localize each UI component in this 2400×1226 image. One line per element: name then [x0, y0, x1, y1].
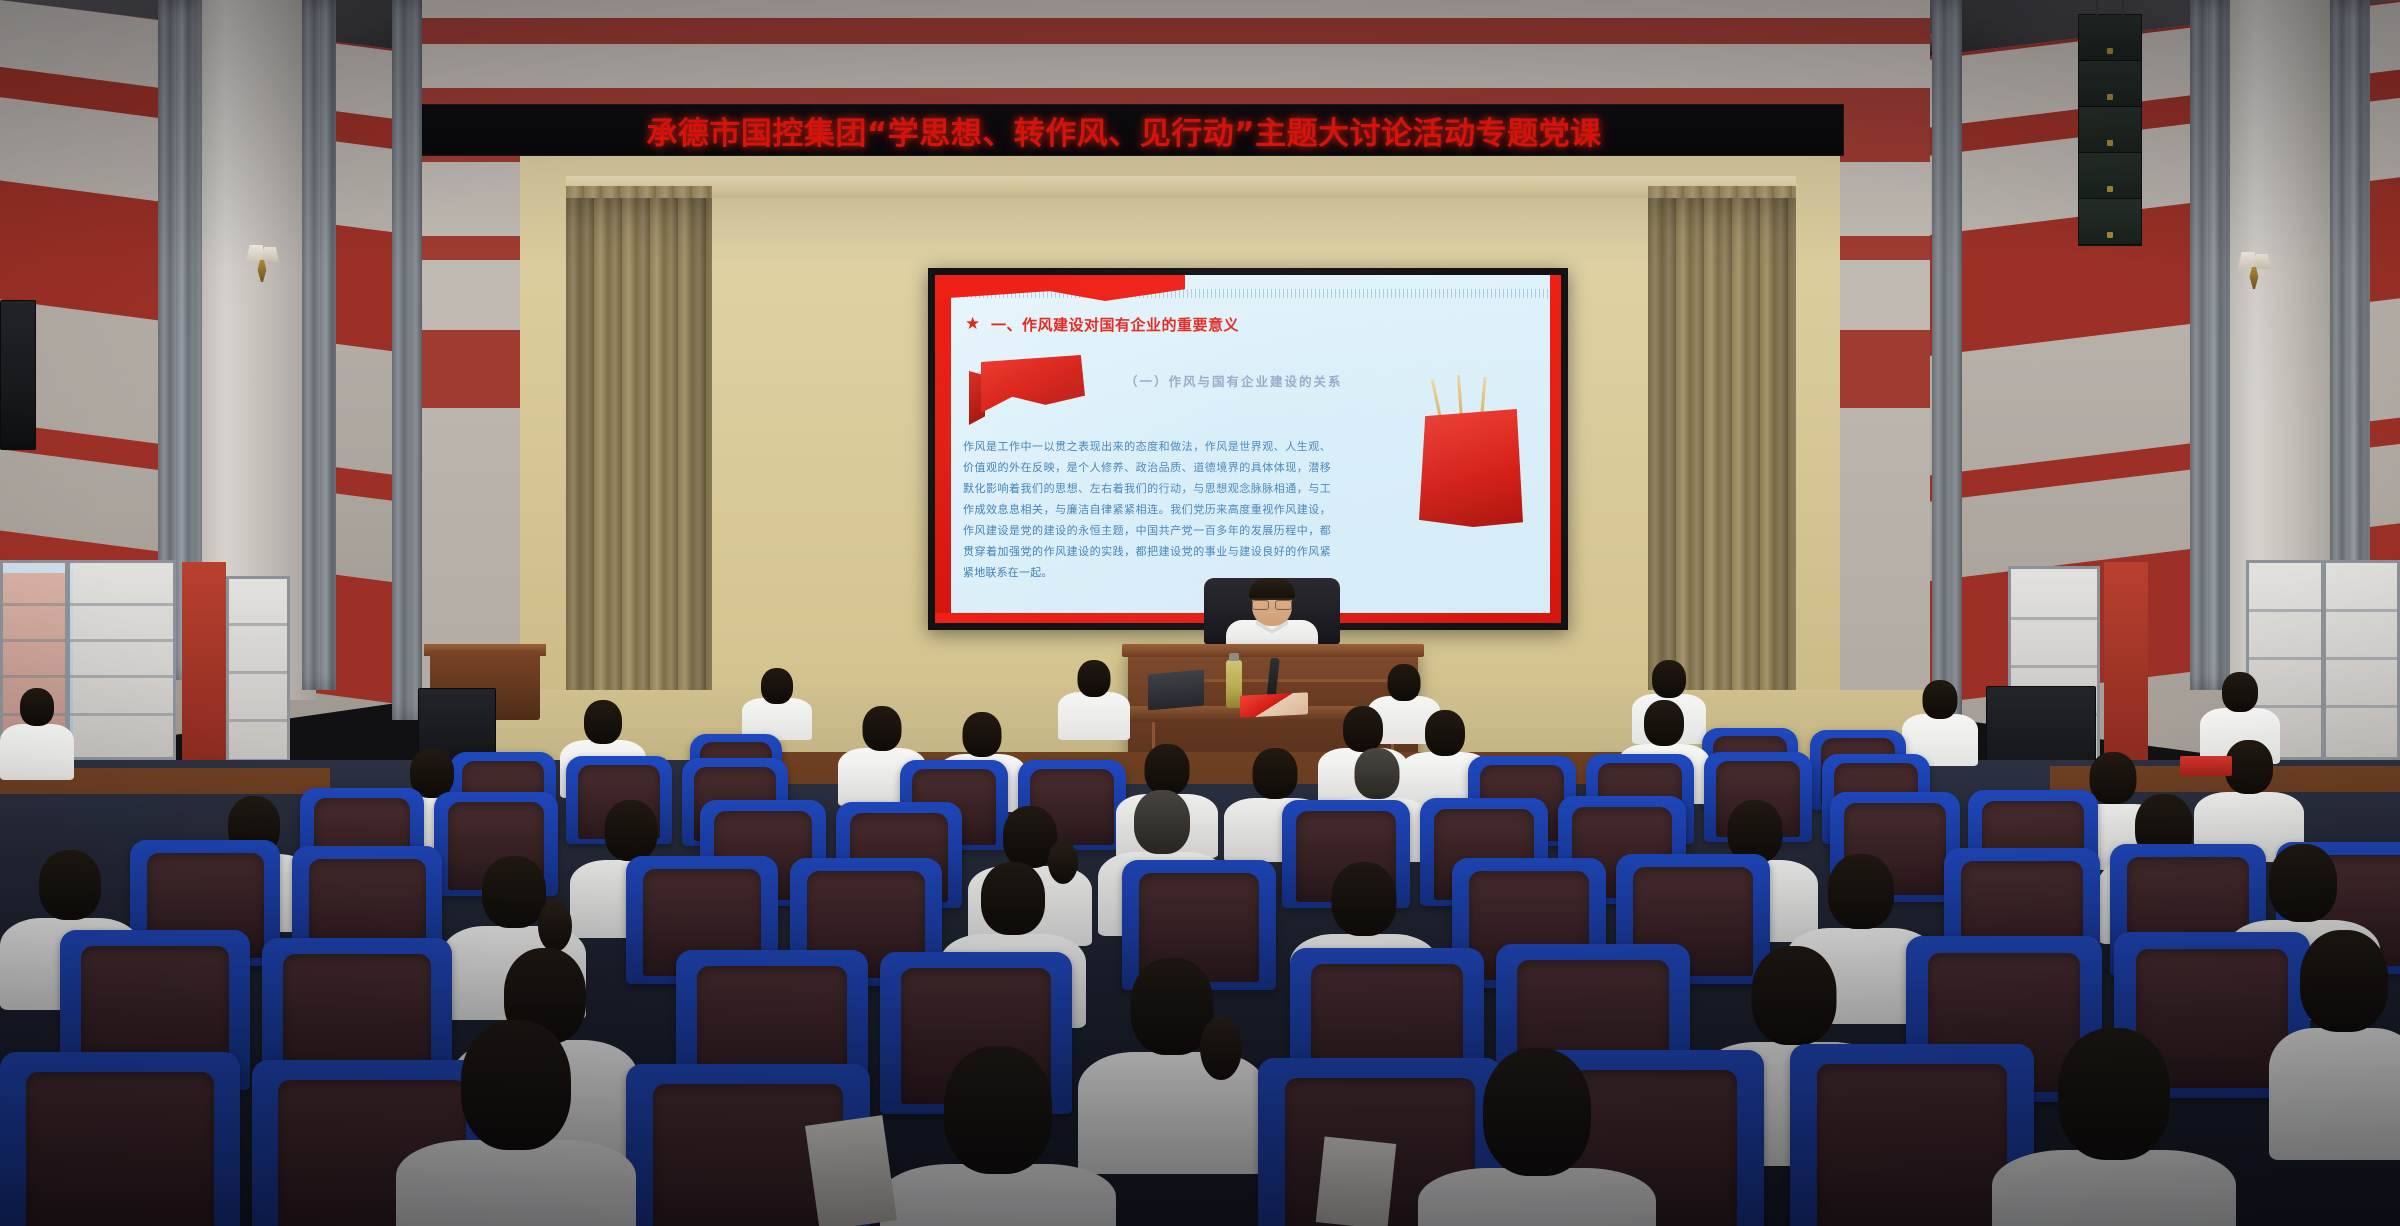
attendee-head [605, 800, 658, 861]
line-array-speaker-icon [2078, 14, 2142, 246]
presenter-hair [1249, 578, 1295, 600]
attendee-head [1332, 862, 1397, 936]
attendee-head [1134, 790, 1190, 854]
event-banner: 承德市国控集团“学思想、转作风、见行动”主题大讨论活动专题党课 [404, 104, 1844, 156]
star-icon: ★ [965, 315, 982, 332]
attendee-head [2300, 930, 2388, 1032]
attendee [1058, 660, 1130, 740]
attendee-head [1388, 664, 1421, 701]
attendee-head [1078, 660, 1111, 697]
stage-curtain-right [1648, 198, 1796, 738]
wall-panel-red [2104, 562, 2148, 760]
wall-sconce-icon [2232, 252, 2276, 292]
slide-title: 一、作风建设对国有企业的重要意义 [991, 314, 1239, 335]
attendee-head [20, 688, 54, 726]
attendee-head [2222, 672, 2258, 712]
auditorium-seat[interactable] [0, 1052, 240, 1226]
side-drape-left [392, 0, 422, 720]
attendee-head [1145, 744, 1190, 795]
attendee-head [981, 862, 1045, 935]
red-book-fan-icon [1411, 379, 1535, 529]
attendee [742, 668, 812, 740]
laptop-icon[interactable] [1148, 670, 1204, 711]
attendee-head [482, 856, 546, 928]
attendee-head [1923, 680, 1958, 719]
slide-body-text: 作风是工作中一以贯之表现出来的态度和做法，作风是世界观、人生观、价值观的外在反映… [963, 437, 1331, 584]
wall-sconce-icon [240, 245, 284, 285]
exterior-building [73, 560, 176, 760]
attendee-head [2269, 844, 2337, 922]
stage-curtain-left [566, 198, 712, 738]
slide-accent-bar-left [935, 275, 951, 623]
attendee-head [1752, 946, 1837, 1045]
attendee-shoulders [396, 1140, 636, 1226]
attendee [1992, 1028, 2236, 1226]
speaker-cabinet-icon [0, 300, 36, 450]
attendee-head [963, 712, 1002, 757]
pillar-drape-right [2190, 0, 2230, 690]
attendee-head [1425, 710, 1465, 756]
glasses-icon [1251, 598, 1293, 606]
attendee-shoulders [0, 724, 74, 780]
hair-bun [1200, 1016, 1242, 1080]
window-left-inner [226, 576, 290, 762]
projection-screen[interactable]: ★ 一、作风建设对国有企业的重要意义 （一）作风与国有企业建设的关系 作风是工作… [928, 268, 1568, 630]
attendee-shoulders [2269, 1028, 2400, 1160]
attendee-head [1343, 706, 1383, 752]
slide-accent-bar-right [1550, 275, 1561, 623]
attendee [880, 1046, 1116, 1226]
side-drape-right [1932, 0, 1962, 720]
attendee-head [1355, 748, 1400, 799]
attendee-head [944, 1046, 1052, 1174]
attendee-head [1644, 700, 1684, 746]
attendee-head [1483, 1048, 1591, 1176]
attendee-head [1253, 748, 1298, 799]
podium-top-ledge [1122, 644, 1424, 657]
attendee [396, 1020, 636, 1226]
attendee-shoulders [1992, 1150, 2236, 1226]
red-document-icon[interactable] [1240, 692, 1308, 718]
pillar-drape-left-inner [302, 0, 336, 690]
handout-paper [1316, 1136, 1397, 1226]
attendee-shoulders [1058, 692, 1130, 740]
hair-bun [538, 900, 572, 952]
handout-paper [805, 1115, 897, 1226]
attendee-head [39, 850, 101, 920]
attendee-head [584, 700, 622, 744]
attendee-head [1828, 854, 1894, 929]
attendee-head [2225, 740, 2273, 794]
stage-header-band [566, 176, 1796, 198]
conference-hall-scene: ★ 一、作风建设对国有企业的重要意义 （一）作风与国有企业建设的关系 作风是工作… [0, 0, 2400, 1226]
presentation-slide: ★ 一、作风建设对国有企业的重要意义 （一）作风与国有企业建设的关系 作风是工作… [935, 275, 1561, 623]
attendee-head [863, 706, 902, 751]
wall-stripe [418, 18, 1930, 44]
attendee-head [2058, 1028, 2170, 1160]
attendee [0, 688, 74, 780]
red-item-on-desk [2180, 756, 2232, 776]
red-flag-icon [963, 353, 1085, 425]
attendee-head [761, 668, 793, 704]
attendee [1418, 1048, 1656, 1226]
attendee-head [1652, 660, 1686, 698]
attendee-head [461, 1020, 571, 1150]
attendee [2288, 930, 2400, 1160]
slide-subtitle: （一）作风与国有企业建设的关系 [1125, 371, 1343, 390]
wall-panel-red [182, 562, 226, 760]
attendee-shoulders [1418, 1168, 1656, 1226]
event-banner-text: 承德市国控集团“学思想、转作风、见行动”主题大讨论活动专题党课 [646, 108, 1601, 153]
